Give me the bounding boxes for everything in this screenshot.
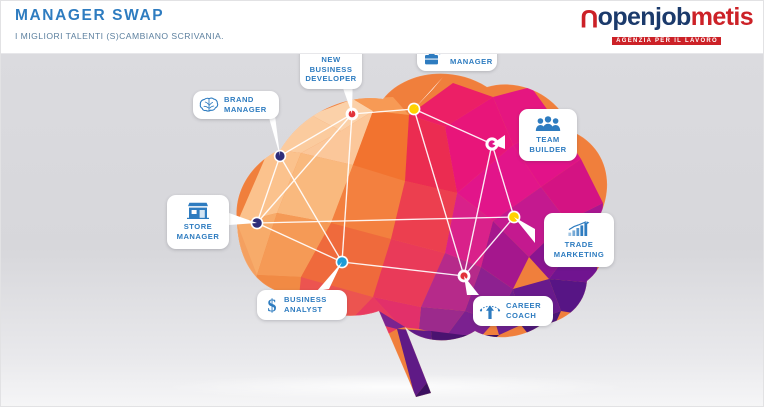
page-header: MANAGER SWAP I MIGLIORI TALENTI (S)CAMBI… [1, 1, 764, 54]
svg-text:$: $ [268, 296, 277, 316]
growth-arrow-icon [479, 302, 501, 320]
logo-open: open [598, 3, 655, 31]
callout-label: BRAND MANAGER [224, 95, 267, 114]
page-title: MANAGER SWAP [15, 7, 164, 25]
briefcase-chart-icon [423, 53, 445, 66]
callout-label: TEAM BUILDER [529, 135, 566, 154]
infographic-page: MANAGER SWAP I MIGLIORI TALENTI (S)CAMBI… [0, 0, 764, 407]
callout-trade-marketing[interactable]: TRADE MARKETING [544, 213, 614, 267]
callout-team-builder[interactable]: TEAM BUILDER [519, 109, 577, 161]
logo-job: job [655, 3, 691, 31]
bar-chart-arrow-icon [567, 221, 591, 237]
callout-new-business-developer[interactable]: NEW BUSINESS DEVELOPER [300, 53, 362, 89]
logo-metis: metis [691, 3, 753, 31]
people-group-icon [535, 116, 561, 132]
callout-business-analyst[interactable]: $ BUSINESS ANALYST [257, 290, 347, 320]
dollar-sign-icon: $ [265, 295, 279, 315]
callout-career-coach[interactable]: CAREER COACH [473, 296, 553, 326]
callout-label: TRADE MARKETING [554, 240, 604, 259]
logo-u-glyph: U [580, 5, 597, 30]
openjobmetis-logo: Uopenjobmetis AGENZIA PER IL LAVORO [580, 5, 753, 46]
callout-brand-manager[interactable]: BRAND MANAGER [193, 91, 279, 119]
callout-label: CAREER COACH [506, 301, 541, 320]
brain-icon [199, 97, 219, 113]
logo-tagline: AGENZIA PER IL LAVORO [612, 37, 721, 45]
storefront-icon [186, 202, 210, 219]
callout-label: BUSINESS ANALYST [284, 295, 327, 314]
brain-infographic-stage: NEW BUSINESS DEVELOPER RISK MANAGER [1, 53, 764, 407]
callout-risk-manager[interactable]: RISK MANAGER [417, 53, 497, 71]
callout-label: RISK MANAGER [450, 53, 493, 67]
page-subtitle: I MIGLIORI TALENTI (S)CAMBIANO SCRIVANIA… [15, 31, 224, 41]
logo-wordmark: Uopenjobmetis [580, 5, 753, 30]
callout-store-manager[interactable]: STORE MANAGER [167, 195, 229, 249]
callout-label: STORE MANAGER [177, 222, 220, 241]
callout-label: NEW BUSINESS DEVELOPER [305, 55, 356, 84]
low-poly-brain-illustration [1, 53, 764, 407]
